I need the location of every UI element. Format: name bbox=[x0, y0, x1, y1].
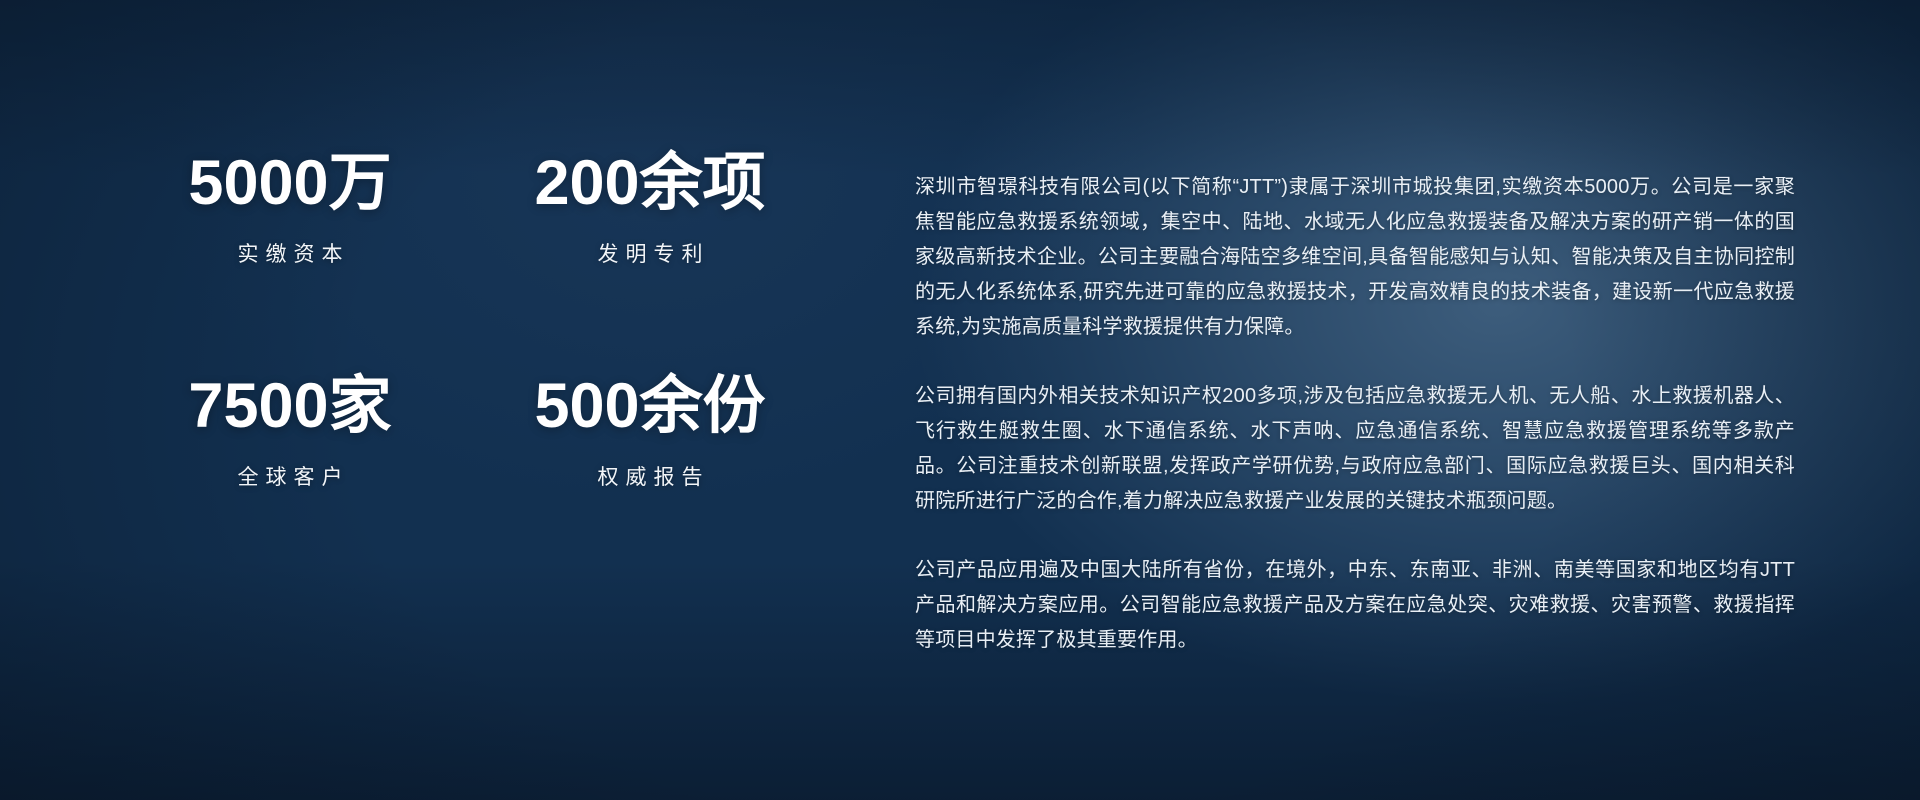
stat-value: 5000万 bbox=[120, 150, 460, 216]
stat-value: 500余份 bbox=[480, 373, 820, 439]
description-paragraph: 深圳市智璟科技有限公司(以下简称“JTT”)隶属于深圳市城投集团,实缴资本500… bbox=[915, 170, 1795, 345]
about-company-section: 5000万 实缴资本 200余项 发明专利 7500家 全球客户 500余份 权… bbox=[0, 0, 1920, 800]
stat-label: 全球客户 bbox=[120, 461, 460, 491]
stat-global-customers: 7500家 全球客户 bbox=[120, 373, 460, 570]
description-paragraph: 公司产品应用遍及中国大陆所有省份，在境外，中东、东南亚、非洲、南美等国家和地区均… bbox=[915, 553, 1795, 658]
stat-value: 200余项 bbox=[480, 150, 820, 216]
stat-label: 实缴资本 bbox=[120, 238, 460, 268]
stat-paid-in-capital: 5000万 实缴资本 bbox=[120, 150, 460, 347]
stat-label: 权威报告 bbox=[480, 461, 820, 491]
description-paragraph: 公司拥有国内外相关技术知识产权200多项,涉及包括应急救援无人机、无人船、水上救… bbox=[915, 379, 1795, 519]
statistics-grid: 5000万 实缴资本 200余项 发明专利 7500家 全球客户 500余份 权… bbox=[120, 150, 820, 570]
stat-authoritative-reports: 500余份 权威报告 bbox=[480, 373, 820, 570]
stat-invention-patents: 200余项 发明专利 bbox=[480, 150, 820, 347]
company-description: 深圳市智璟科技有限公司(以下简称“JTT”)隶属于深圳市城投集团,实缴资本500… bbox=[915, 170, 1795, 658]
stat-value: 7500家 bbox=[120, 373, 460, 439]
stat-label: 发明专利 bbox=[480, 238, 820, 268]
